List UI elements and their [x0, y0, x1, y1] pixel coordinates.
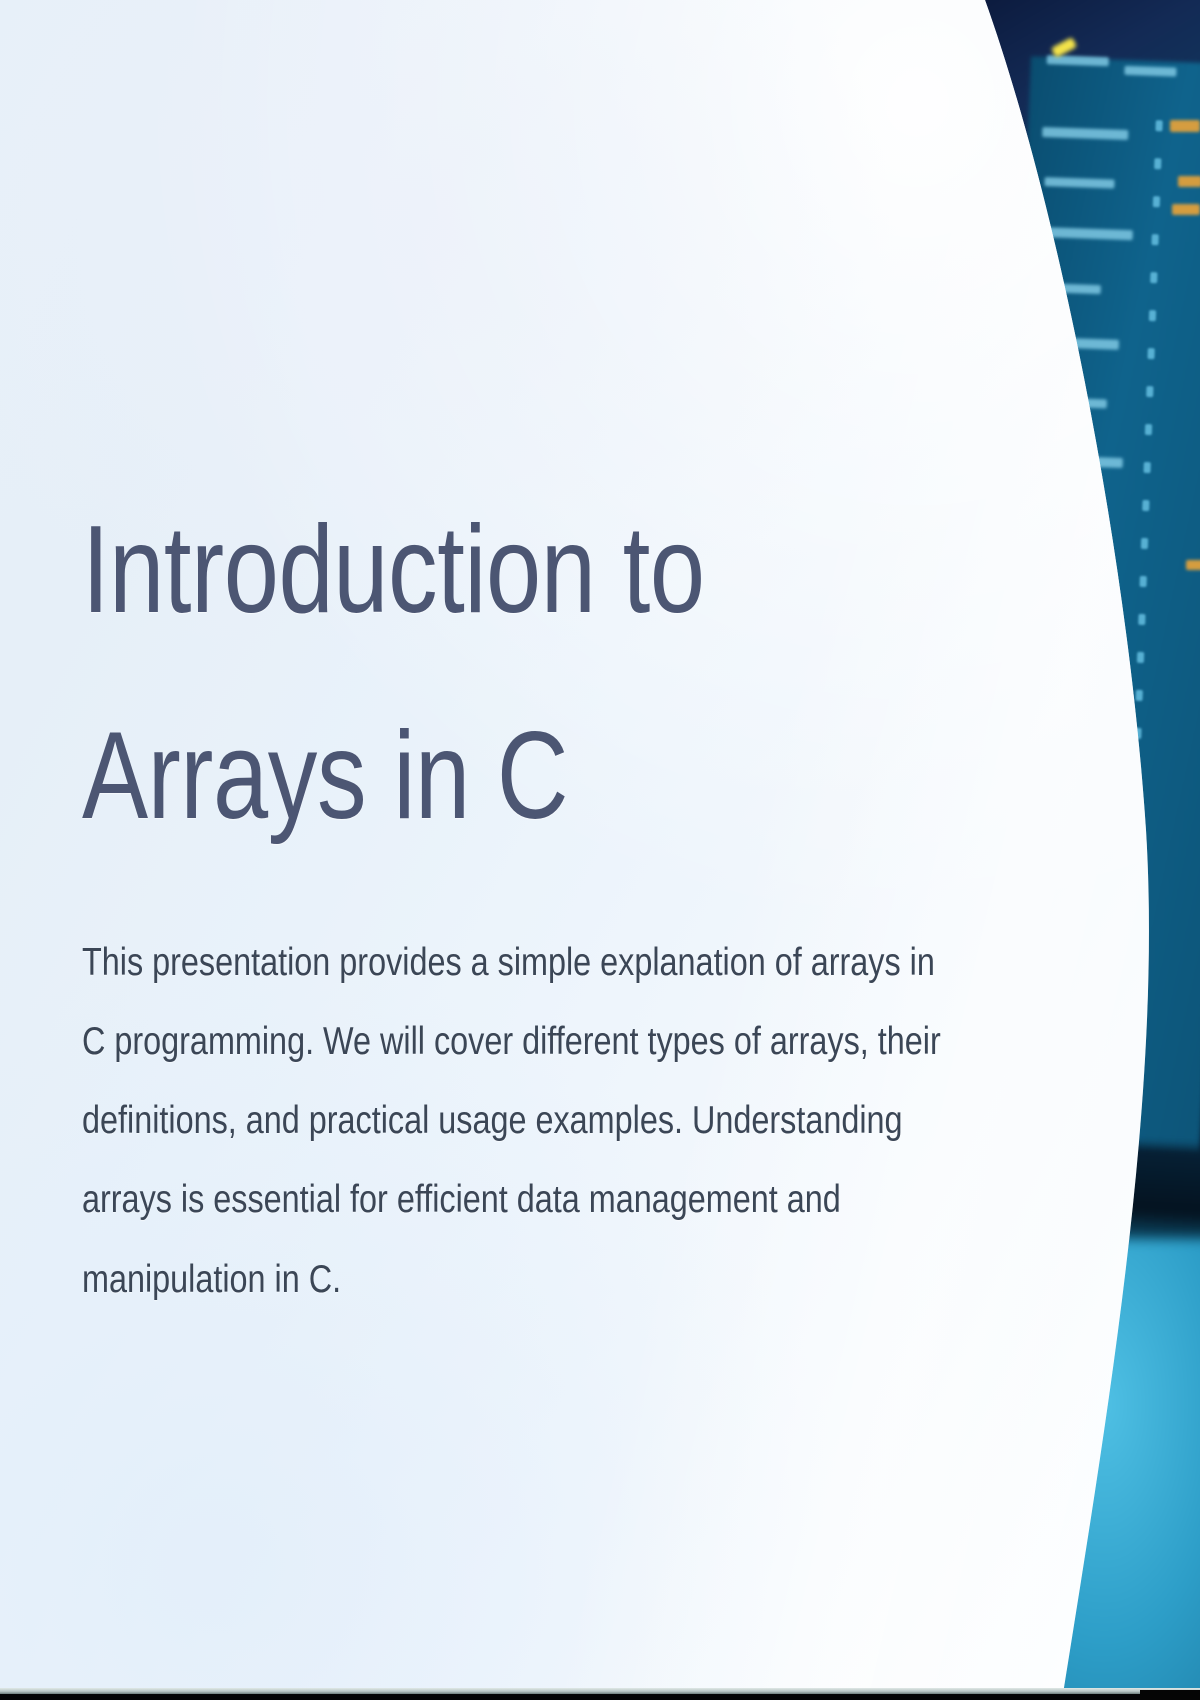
monitor-bezel-corner — [1140, 1690, 1200, 1700]
slide-content: Introduction to Arrays in C This present… — [82, 468, 942, 880]
background-amber-text-2 — [1178, 176, 1200, 187]
page-title: Introduction to Arrays in C — [82, 468, 770, 880]
background-amber-text-1 — [1170, 120, 1200, 132]
slide-photo-frame: Introduction to Arrays in C This present… — [0, 0, 1200, 1700]
background-amber-text-3 — [1172, 204, 1200, 215]
background-amber-text-4 — [1186, 560, 1200, 570]
slide-description: This presentation provides a simple expl… — [82, 923, 962, 1319]
monitor-bezel — [0, 1694, 1200, 1700]
presentation-slide: Introduction to Arrays in C This present… — [0, 0, 1175, 1700]
